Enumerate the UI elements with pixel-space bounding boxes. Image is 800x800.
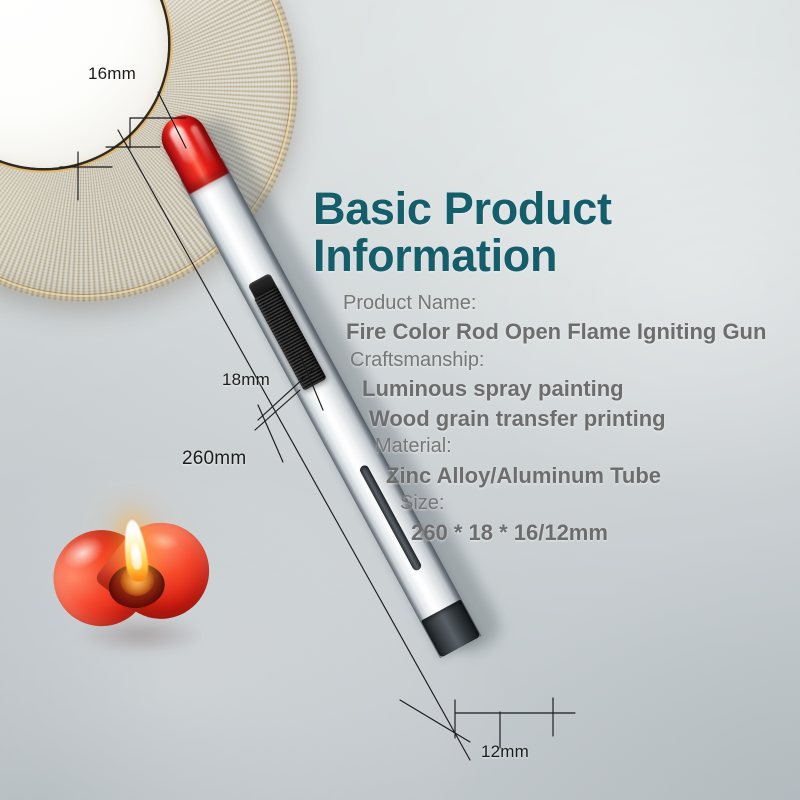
spec-label-product-name: Product Name: <box>343 290 795 318</box>
spec-label-material: Material: <box>375 433 795 461</box>
dimension-label-18mm: 18mm <box>222 370 270 390</box>
spec-value-craftsmanship-1: Luminous spray painting <box>362 374 795 403</box>
spec-label-craftsmanship: Craftsmanship: <box>350 347 795 375</box>
spec-value-product-name: Fire Color Rod Open Flame Igniting Gun <box>346 317 795 346</box>
page-title: Basic Product Information <box>313 186 795 280</box>
spec-value-material: Zinc Alloy/Aluminum Tube <box>386 461 795 490</box>
title-line-1: Basic Product <box>313 183 612 234</box>
dimension-label-260mm: 260mm <box>182 448 246 470</box>
dimension-label-12mm: 12mm <box>481 742 529 762</box>
title-line-2: Information <box>313 230 557 281</box>
heart-candle-prop <box>47 512 225 670</box>
spec-label-size: Size: <box>400 490 795 518</box>
spec-value-craftsmanship-2: Wood grain transfer printing <box>369 404 795 433</box>
dimension-label-16mm: 16mm <box>88 64 136 84</box>
dim-18-extension-lower <box>255 390 300 430</box>
info-panel: Basic Product Information Product Name: … <box>313 186 795 547</box>
product-infographic: 16mm 18mm 260mm 12mm Basic Product Infor… <box>0 0 800 800</box>
spec-value-size: 260 * 18 * 16/12mm <box>411 518 795 547</box>
dim-12-extension-left <box>400 700 470 742</box>
dim-18-tick-lower <box>258 405 283 462</box>
heart-shape <box>38 502 233 675</box>
spec-list: Product Name: Fire Color Rod Open Flame … <box>313 290 795 548</box>
